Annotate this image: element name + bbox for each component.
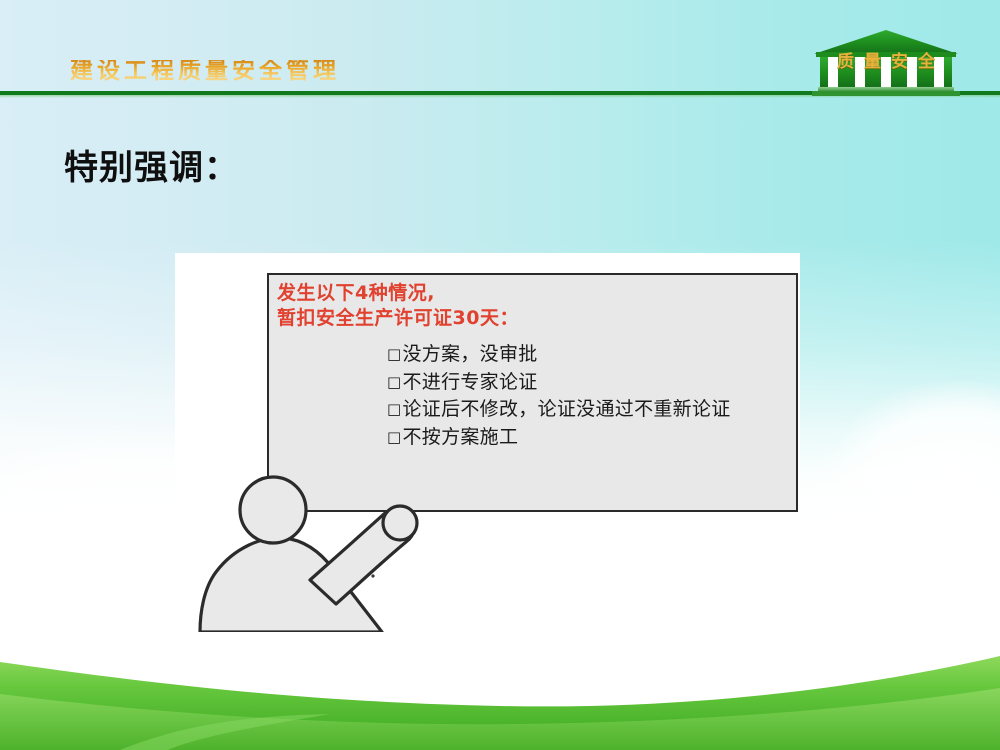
violation-list: □没方案，没审批 □不进行专家论证 □论证后不修改，论证没通过不重新论证 □不按… xyxy=(387,341,731,452)
grass-hills-icon xyxy=(0,630,1000,750)
list-item-label: 不按方案施工 xyxy=(402,426,518,448)
list-item-label: 没方案，没审批 xyxy=(402,343,537,365)
slide-heading: 特别强调： xyxy=(64,150,239,187)
list-item-label: 不进行专家论证 xyxy=(402,371,537,393)
presenter-pointing-figure xyxy=(176,462,426,632)
list-item: □没方案，没审批 xyxy=(387,341,731,369)
list-item: □论证后不修改，论证没通过不重新论证 xyxy=(387,396,731,424)
warning-text-block: 发生以下4种情况, 暂扣安全生产许可证30天： xyxy=(277,281,519,331)
warning-line-2: 暂扣安全生产许可证30天： xyxy=(277,306,519,331)
list-item-label: 论证后不修改，论证没通过不重新论证 xyxy=(402,398,730,420)
warning-line-1: 发生以下4种情况, xyxy=(277,281,519,306)
logo-label: 质量安全 xyxy=(806,54,966,71)
slide-canvas: 建设工程质量安全管理 xyxy=(0,0,1000,750)
quality-safety-temple-logo: 质量安全 xyxy=(806,28,966,98)
checkbox-square-icon: □ xyxy=(387,427,401,449)
checkbox-square-icon: □ xyxy=(387,399,401,421)
list-item: □不进行专家论证 xyxy=(387,369,731,397)
page-title: 建设工程质量安全管理 xyxy=(70,60,340,83)
checkbox-square-icon: □ xyxy=(387,372,401,394)
list-item: □不按方案施工 xyxy=(387,424,731,452)
header-band: 建设工程质量安全管理 xyxy=(0,0,1000,100)
grass-hills xyxy=(0,630,1000,750)
person-pointing-icon xyxy=(176,462,426,632)
checkbox-square-icon: □ xyxy=(387,344,401,366)
